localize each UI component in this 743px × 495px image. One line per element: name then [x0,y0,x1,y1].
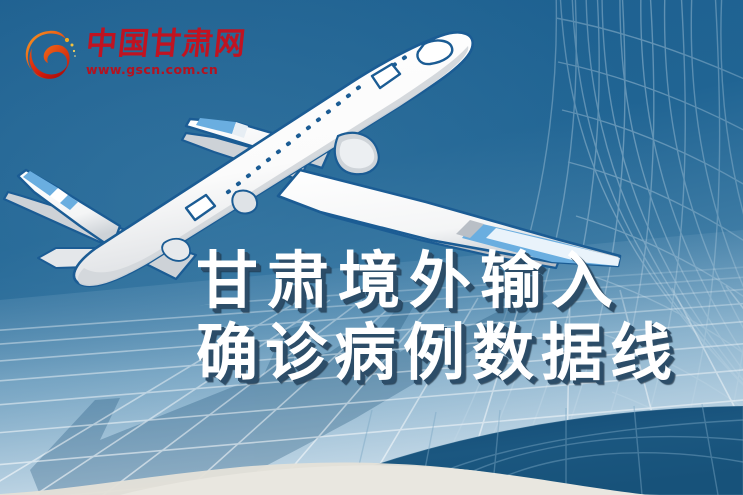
logo-site-name: 中国甘肃网 [84,27,238,61]
site-logo[interactable]: 中国甘肃网 www.gscn.com.cn [22,24,237,86]
logo-site-url: www.gscn.com.cn [86,62,236,77]
logo-text: 中国甘肃网 www.gscn.com.cn [86,27,236,83]
headline-line-2: 确诊病例数据线 [196,317,736,389]
poster-banner: 中国甘肃网 www.gscn.com.cn 甘肃境外输入 确诊病例数据线 [0,0,743,495]
poster-headline: 甘肃境外输入 确诊病例数据线 [196,245,736,389]
gansu-net-logo-mark [22,26,80,84]
headline-line-1: 甘肃境外输入 [196,245,736,317]
